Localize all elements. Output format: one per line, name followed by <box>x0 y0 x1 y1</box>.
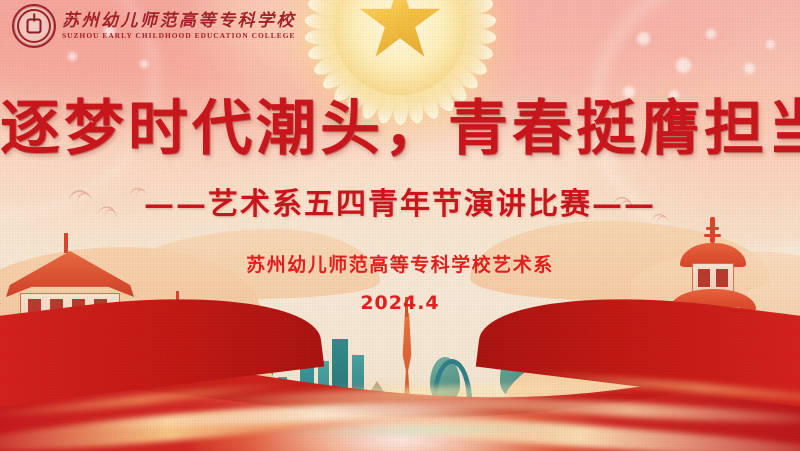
school-name-en: SUZHOU EARLY CHILDHOOD EDUCATION COLLEGE <box>62 31 296 40</box>
golden-light-streaks <box>0 359 800 451</box>
page-title: 逐梦时代潮头，青春挺膺担当 <box>0 96 800 163</box>
event-date: 2024.4 <box>0 292 800 314</box>
school-seal-icon <box>12 4 56 48</box>
event-subtitle: ——艺术系五四青年节演讲比赛—— <box>0 179 800 223</box>
organizer-line: 苏州幼儿师范高等专科学校艺术系 <box>0 250 800 277</box>
title-block: 逐梦时代潮头，青春挺膺担当 ——艺术系五四青年节演讲比赛—— 苏州幼儿师范高等专… <box>0 96 800 314</box>
event-poster: 苏州幼儿师范高等专科学校 SUZHOU EARLY CHILDHOOD EDUC… <box>0 0 800 451</box>
school-name-cn: 苏州幼儿师范高等专科学校 <box>62 12 296 31</box>
school-logo-lockup: 苏州幼儿师范高等专科学校 SUZHOU EARLY CHILDHOOD EDUC… <box>12 4 296 48</box>
